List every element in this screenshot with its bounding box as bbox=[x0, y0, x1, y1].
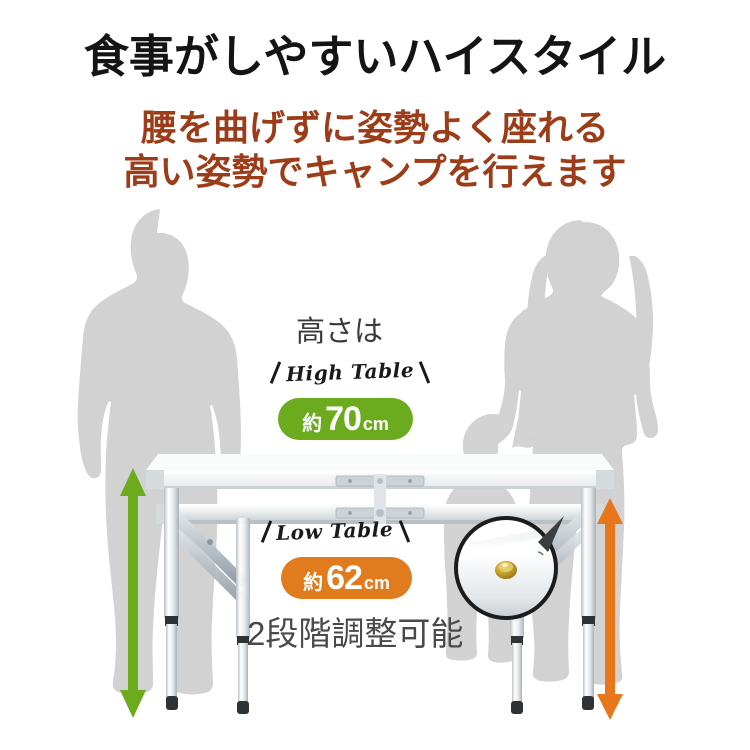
low-approx-prefix: 約 bbox=[303, 562, 323, 604]
low-table-script-row: Low Table bbox=[250, 519, 420, 543]
subtitle-line-2: 高い姿勢でキャンプを行えます bbox=[0, 152, 750, 192]
high-unit: cm bbox=[363, 403, 389, 445]
leg-front-right bbox=[581, 488, 596, 710]
leg-lock-button-icon bbox=[495, 561, 517, 579]
height-arrow-low-table bbox=[595, 498, 625, 720]
high-value: 70 bbox=[325, 398, 361, 440]
height-badge-high-table: 約 70 cm bbox=[278, 398, 413, 440]
low-table-script-label: Low Table bbox=[276, 517, 394, 545]
high-table-script-row: High Table bbox=[270, 360, 430, 384]
script-slash-right bbox=[398, 520, 409, 542]
page-title: 食事がしやすいハイスタイル bbox=[0, 32, 750, 82]
low-value: 62 bbox=[326, 557, 362, 599]
high-table-script-label: High Table bbox=[286, 358, 415, 386]
promo-graphic: 食事がしやすいハイスタイル 腰を曲げずに姿勢よく座れる 高い姿勢でキャンプを行え… bbox=[0, 0, 750, 750]
script-slash-left bbox=[270, 361, 281, 383]
magnified-leg-detail bbox=[452, 512, 564, 624]
low-unit: cm bbox=[364, 562, 390, 604]
subtitle-line-1: 腰を曲げずに姿勢よく座れる bbox=[0, 108, 750, 148]
height-arrow-high-table bbox=[118, 468, 148, 718]
height-badge-low-table: 約 62 cm bbox=[281, 557, 412, 599]
adjustment-note: 2段階調整可能 bbox=[247, 607, 463, 655]
script-slash-left bbox=[261, 520, 272, 542]
high-approx-prefix: 約 bbox=[302, 403, 322, 445]
script-slash-right bbox=[419, 361, 430, 383]
height-intro-label: 高さは bbox=[296, 308, 383, 350]
leg-front-left bbox=[164, 488, 179, 710]
leg-lock-callout-magnifier bbox=[452, 512, 564, 624]
